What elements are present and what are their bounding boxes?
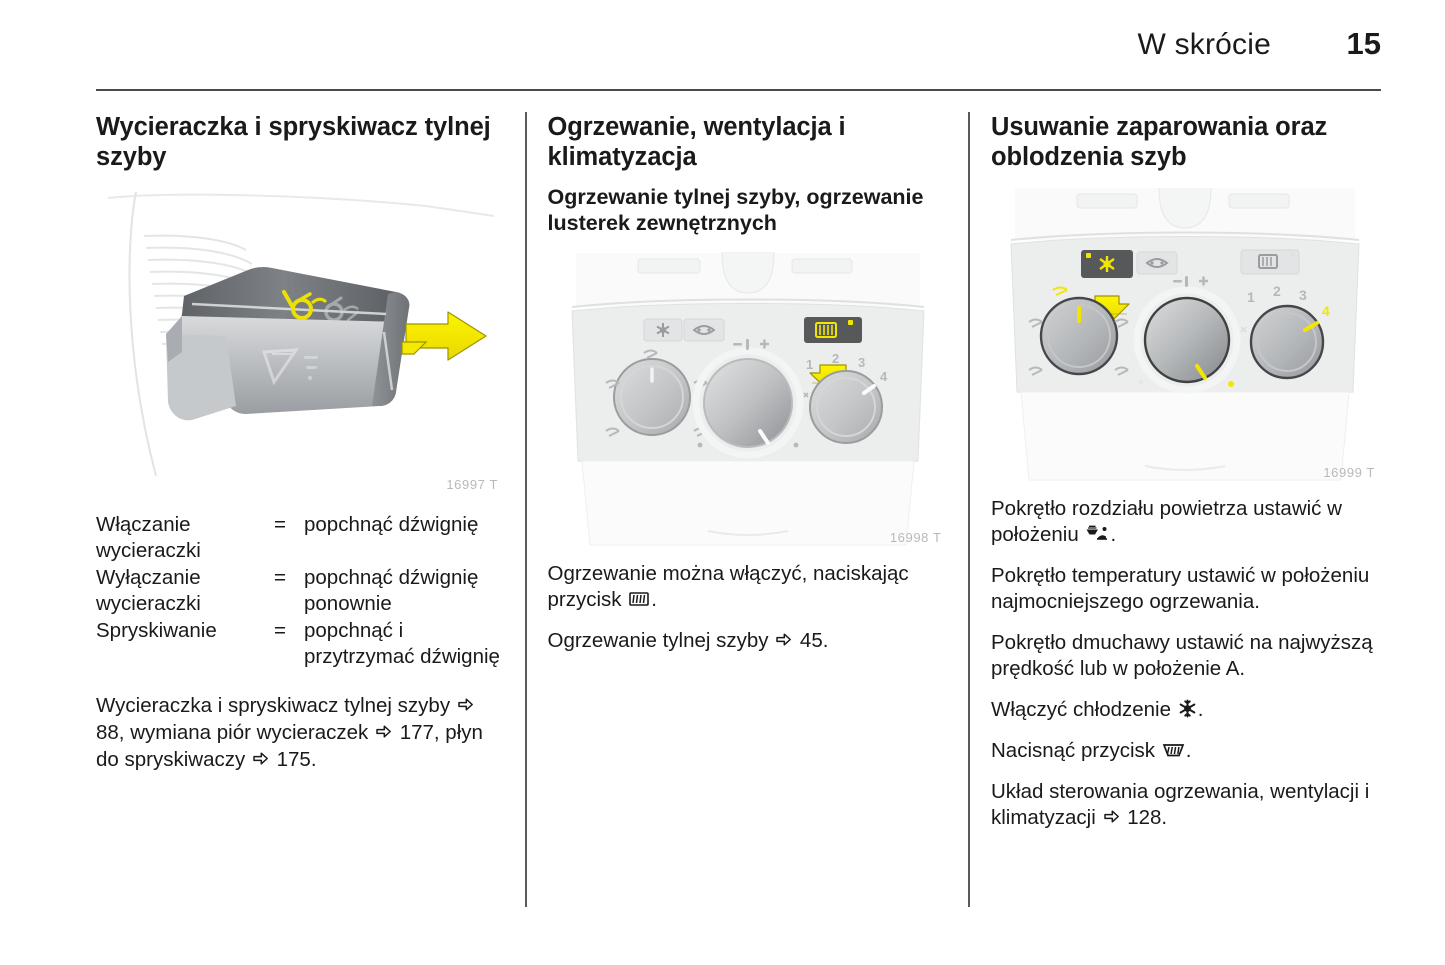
definition-equals: = — [274, 512, 304, 565]
cross-reference-rear-heating: Ogrzewanie tylnej szyby 45. — [548, 628, 948, 655]
svg-text:3: 3 — [858, 355, 865, 370]
definition-term: Włączanie wycieraczki — [96, 512, 274, 565]
figure-climate-panel-rear-defrost: 1 2 3 4 16998 T — [548, 249, 948, 549]
temperature-knob[interactable] — [696, 351, 800, 455]
page-header: W skrócie 15 — [96, 26, 1381, 62]
definition-term: Spryskiwanie — [96, 618, 274, 671]
figure-number: 16999 T — [1323, 465, 1375, 480]
definition-term: Wyłączanie wycieraczki — [96, 565, 274, 618]
page-title: W skrócie — [1138, 28, 1271, 62]
climate-control-panel-rear-defrost-illustration: 1 2 3 4 — [548, 249, 948, 549]
column-heating-ventilation-ac: Ogrzewanie, wentylacja i klimatyzacja Og… — [548, 112, 948, 912]
rear-window-defrost-icon — [628, 590, 650, 608]
paragraph-text: Układ sterowania ogrzewania, wentylacji … — [991, 780, 1369, 829]
definition-description: popchnąć i przytrzymać dźwignię — [304, 618, 504, 671]
rear-defrost-button[interactable] — [1241, 250, 1299, 274]
column-rear-wiper-washer: Wycieraczka i spryskiwacz tylnej szyby — [96, 112, 504, 912]
definition-description: popchnąć dźwignię ponownie — [304, 565, 504, 618]
note-text: 175. — [271, 748, 317, 771]
svg-text:3: 3 — [1299, 287, 1307, 303]
climate-control-panel-ac-illustration: 1 2 3 4 — [991, 184, 1381, 484]
svg-text:4: 4 — [880, 369, 888, 384]
paragraph-text: Pokrętło rozdziału powietrza ustawić w p… — [991, 497, 1342, 546]
paragraph-text: . — [1110, 523, 1116, 546]
paragraph-rear-heating-activation: Ogrzewanie można włączyć, naciskając prz… — [548, 561, 948, 613]
blower-knob[interactable] — [1251, 306, 1323, 378]
definition-equals: = — [274, 565, 304, 618]
subsection-title-rear-window-heating: Ogrzewanie tylnej szyby, ogrzewanie lust… — [548, 184, 948, 236]
paragraph-press-defrost-button: Nacisnąć przycisk . — [991, 738, 1381, 764]
windshield-defrost-icon — [1162, 741, 1185, 759]
page-reference-arrow-icon — [252, 748, 269, 774]
paragraph-blower-setting: Pokrętło dmuchawy ustawić na najwyższą p… — [991, 630, 1381, 682]
paragraph-enable-cooling: Włączyć chłodzenie . — [991, 697, 1381, 723]
paragraph-text: . — [1186, 739, 1192, 762]
temperature-knob[interactable] — [1137, 290, 1237, 390]
figure-rear-wiper-lever: 16997 T — [96, 184, 504, 496]
wiper-operation-definition-list: Włączanie wycieraczki = popchnąć dźwigni… — [96, 512, 504, 671]
svg-text:1: 1 — [806, 357, 813, 372]
figure-number: 16998 T — [890, 530, 942, 545]
paragraph-text: . — [1198, 698, 1204, 721]
blower-knob[interactable] — [810, 371, 882, 443]
definition-equals: = — [274, 618, 304, 671]
page-reference-arrow-icon — [775, 629, 792, 655]
button-indicator-led — [1086, 253, 1091, 258]
cross-reference-hvac-system: Układ sterowania ogrzewania, wentylacji … — [991, 779, 1381, 832]
recirculation-button[interactable] — [684, 319, 724, 341]
svg-text:1: 1 — [1247, 289, 1255, 305]
paragraph-temperature-setting: Pokrętło temperatury ustawić w położeniu… — [991, 563, 1381, 615]
page-reference-arrow-icon — [457, 694, 474, 720]
figure-number: 16997 T — [446, 477, 498, 492]
svg-text:2: 2 — [1273, 283, 1281, 299]
paragraph-text: 45. — [794, 629, 828, 652]
paragraph-text: Nacisnąć przycisk — [991, 739, 1161, 762]
section-title-rear-wiper: Wycieraczka i spryskiwacz tylnej szyby — [96, 112, 504, 172]
snowflake-cooling-icon — [1178, 699, 1197, 718]
air-distribution-windshield-footwell-icon — [1085, 525, 1109, 543]
note-text: 88, wymiana piór wycieraczek — [96, 721, 374, 744]
paragraph-air-distribution-setting: Pokrętło rozdziału powietrza ustawić w p… — [991, 496, 1381, 548]
page-reference-arrow-icon — [1103, 806, 1120, 832]
definition-description: popchnąć dźwignię — [304, 512, 504, 565]
button-indicator-led — [848, 320, 853, 325]
figure-climate-panel-ac-button: 1 2 3 4 16999 T — [991, 184, 1381, 484]
paragraph-text: 128. — [1122, 806, 1168, 829]
section-title-hvac: Ogrzewanie, wentylacja i klimatyzacja — [548, 112, 948, 172]
header-divider — [96, 89, 1381, 91]
column-divider-2 — [948, 112, 992, 912]
note-text: Wycieraczka i spryskiwacz tylnej szyby — [96, 694, 456, 717]
air-distribution-knob[interactable] — [614, 359, 690, 435]
air-distribution-knob[interactable] — [1041, 298, 1117, 374]
push-direction-arrow — [402, 312, 486, 360]
page-reference-arrow-icon — [375, 721, 392, 747]
cross-reference-note-wiper: Wycieraczka i spryskiwacz tylnej szyby 8… — [96, 693, 504, 774]
paragraph-text: Ogrzewanie można włączyć, naciskając prz… — [548, 562, 909, 611]
rear-defrost-button[interactable] — [804, 317, 862, 343]
column-divider-1 — [504, 112, 548, 912]
recirculation-button[interactable] — [1137, 252, 1177, 274]
page-number: 15 — [1337, 26, 1381, 62]
rear-wiper-lever-illustration — [96, 184, 504, 496]
section-title-defogging: Usuwanie zaparowania oraz oblodzenia szy… — [991, 112, 1381, 172]
svg-text:4: 4 — [1322, 303, 1330, 319]
manual-page: W skrócie 15 Wycieraczka i spryskiwacz t… — [0, 0, 1445, 965]
paragraph-text: Ogrzewanie tylnej szyby — [548, 629, 775, 652]
paragraph-text: . — [651, 588, 657, 611]
svg-text:2: 2 — [832, 351, 839, 366]
content-columns: Wycieraczka i spryskiwacz tylnej szyby — [96, 112, 1381, 912]
column-defogging-deicing: Usuwanie zaparowania oraz oblodzenia szy… — [991, 112, 1381, 912]
paragraph-text: Włączyć chłodzenie — [991, 698, 1177, 721]
